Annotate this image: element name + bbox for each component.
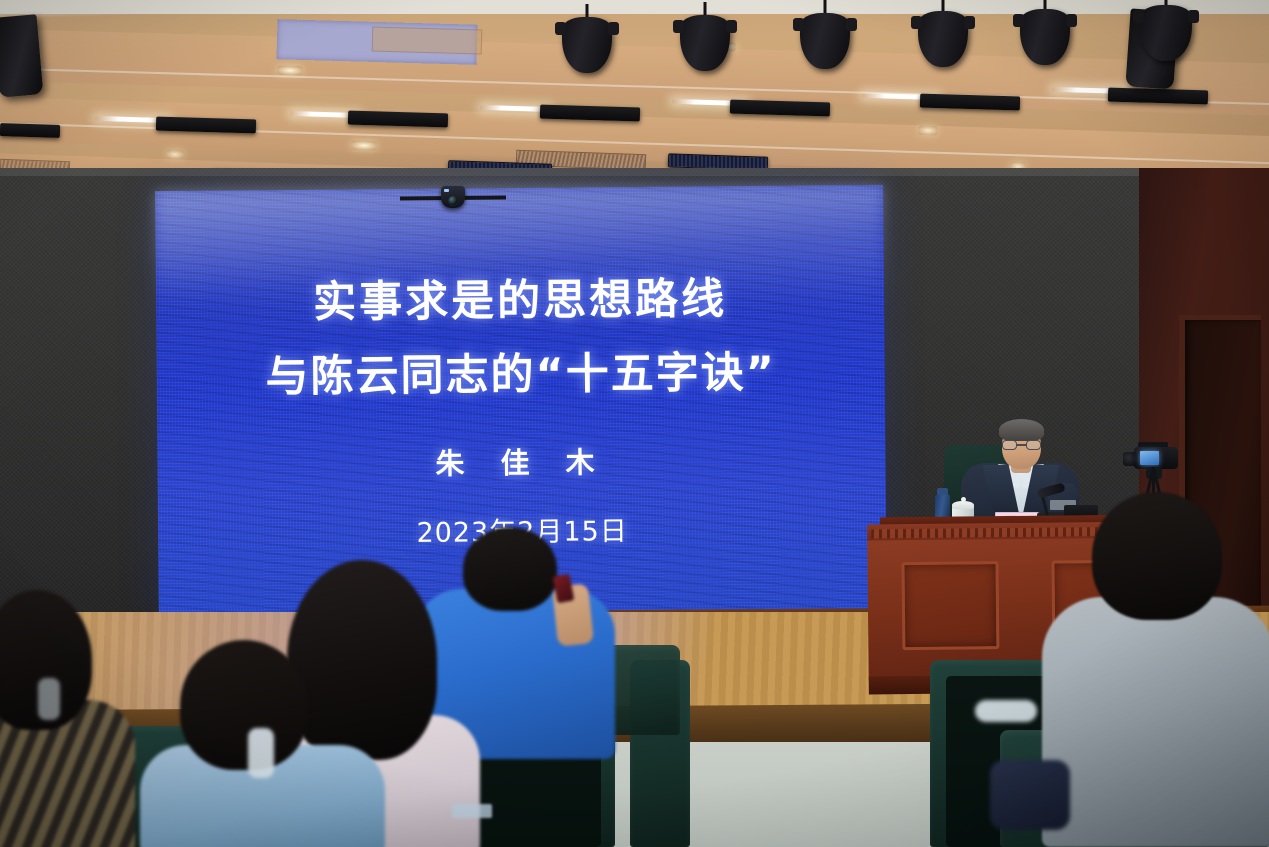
attendee-masked-light-blue bbox=[140, 640, 390, 847]
eyeglasses-icon-right bbox=[1026, 440, 1041, 450]
ceiling-downlight-2 bbox=[351, 141, 377, 151]
camera-lens-icon bbox=[1123, 452, 1137, 466]
face-mask-icon bbox=[38, 678, 60, 720]
stage-spotlight-4 bbox=[918, 0, 968, 54]
ceiling-fixture-bar-5 bbox=[920, 94, 1020, 111]
stage-spotlight-6 bbox=[1140, 0, 1192, 48]
eyeglasses-bridge bbox=[1017, 444, 1026, 446]
seat-smartphone-icon[interactable] bbox=[452, 804, 492, 818]
dome-camera-icon bbox=[441, 186, 465, 208]
ceiling-fixture-bar-2 bbox=[348, 111, 448, 128]
ceiling-speaker-left bbox=[0, 14, 43, 98]
camera-lcd-screen bbox=[1140, 451, 1159, 465]
speaker-hair bbox=[999, 419, 1044, 441]
stage-spotlight-1 bbox=[562, 4, 612, 60]
ceiling-fixture-bar-1 bbox=[156, 117, 256, 134]
face-mask-icon bbox=[248, 728, 274, 778]
attendee-torso bbox=[1042, 597, 1269, 847]
attendee-gray-shirt bbox=[1042, 492, 1269, 847]
ceiling-fixture-bar-4 bbox=[730, 100, 830, 117]
attendee-head bbox=[180, 640, 308, 770]
eyeglasses-icon-left bbox=[1002, 440, 1017, 450]
ceiling-downlight-4 bbox=[166, 150, 184, 160]
stage-spotlight-5 bbox=[1020, 0, 1070, 52]
wall-soffit bbox=[0, 168, 1269, 176]
ceiling-fixture-bar-0 bbox=[0, 123, 60, 138]
slide-author: 朱 佳 木 bbox=[157, 437, 885, 485]
ceiling-access-hatch bbox=[372, 26, 483, 54]
ceiling-downlight-5 bbox=[918, 126, 938, 136]
slide-title-line-2: 与陈云同志的“十五字诀” bbox=[156, 337, 885, 405]
slide-title-line-1: 实事求是的思想路线 bbox=[156, 263, 885, 331]
stage-spotlight-3 bbox=[800, 0, 850, 56]
attendee-striped-top bbox=[0, 590, 140, 847]
ceiling-fixture-bar-3 bbox=[540, 105, 640, 122]
ceiling-top-strip bbox=[0, 0, 1269, 14]
rostrum-inset-panel-1 bbox=[901, 561, 999, 650]
stage-spotlight-2 bbox=[680, 2, 730, 58]
lecture-hall-photo: 实事求是的思想路线 与陈云同志的“十五字诀” 朱 佳 木 2023年2月15日 bbox=[0, 0, 1269, 847]
ceiling-downlight-1 bbox=[277, 66, 303, 76]
attendee-bag bbox=[990, 760, 1070, 830]
attendee-head bbox=[1092, 492, 1222, 620]
ceiling-fixture-bar-6 bbox=[1108, 88, 1208, 105]
discarded-face-mask-icon bbox=[975, 700, 1037, 722]
